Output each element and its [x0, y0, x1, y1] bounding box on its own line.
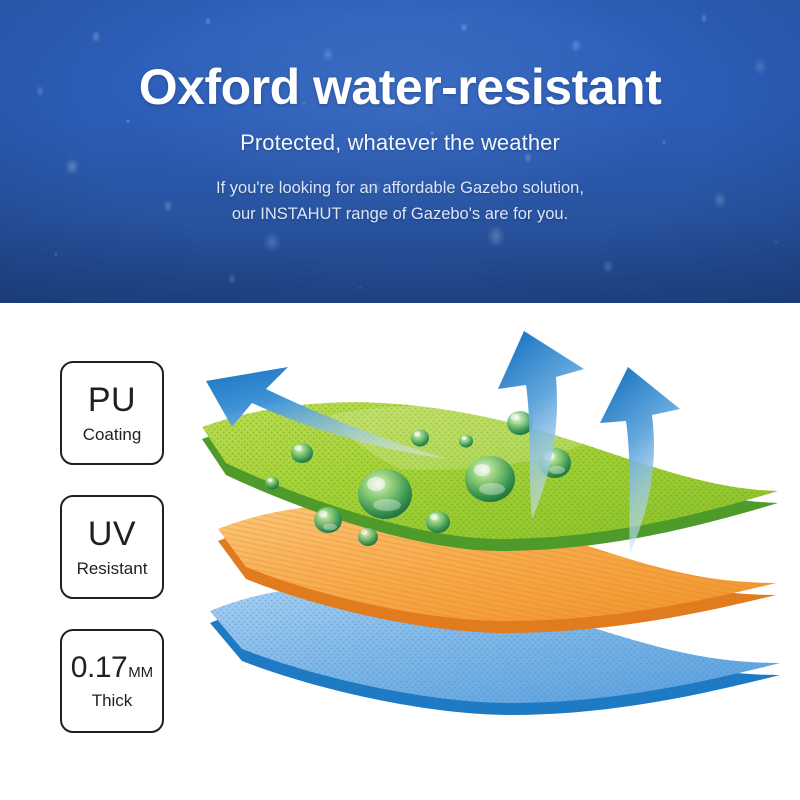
droplet [291, 443, 313, 463]
feature-badge-pu-coating-label: Coating [83, 426, 142, 443]
feature-section: PU Coating UV Resistant 0.17 MM Thick [0, 303, 800, 800]
droplet [358, 469, 412, 519]
page-title: Oxford water-resistant [0, 0, 800, 113]
product-feature-graphic: Oxford water-resistant Protected, whatev… [0, 0, 800, 800]
droplet [265, 477, 279, 490]
banner-subtitle: Protected, whatever the weather [0, 113, 800, 156]
hero-banner: Oxford water-resistant Protected, whatev… [0, 0, 800, 303]
feature-badge-uv-resistant-label: Resistant [77, 560, 148, 577]
feature-badge-thickness: 0.17 MM Thick [60, 629, 164, 733]
feature-badge-thickness-value: 0.17 [71, 653, 127, 683]
droplet [459, 435, 473, 448]
feature-badge-thickness-title: 0.17 MM [71, 653, 153, 683]
feature-badge-list: PU Coating UV Resistant 0.17 MM Thick [60, 361, 172, 733]
feature-badge-uv-resistant: UV Resistant [60, 495, 164, 599]
feature-badge-thickness-label: Thick [92, 692, 133, 709]
droplet [358, 528, 378, 546]
layered-fabric-illustration [180, 323, 800, 783]
droplet [411, 430, 429, 447]
droplet [426, 511, 450, 533]
banner-text-block: Oxford water-resistant Protected, whatev… [0, 0, 800, 227]
feature-badge-pu-coating: PU Coating [60, 361, 164, 465]
droplet [465, 456, 515, 502]
banner-body-text: If you're looking for an affordable Gaze… [0, 156, 800, 227]
banner-body-line-1: If you're looking for an affordable Gaze… [0, 176, 800, 202]
banner-body-line-2: our INSTAHUT range of Gazebo's are for y… [0, 202, 800, 228]
feature-badge-pu-coating-title: PU [88, 383, 136, 417]
feature-badge-uv-resistant-title: UV [88, 517, 136, 551]
feature-badge-thickness-unit: MM [128, 665, 153, 680]
droplet [314, 507, 342, 533]
